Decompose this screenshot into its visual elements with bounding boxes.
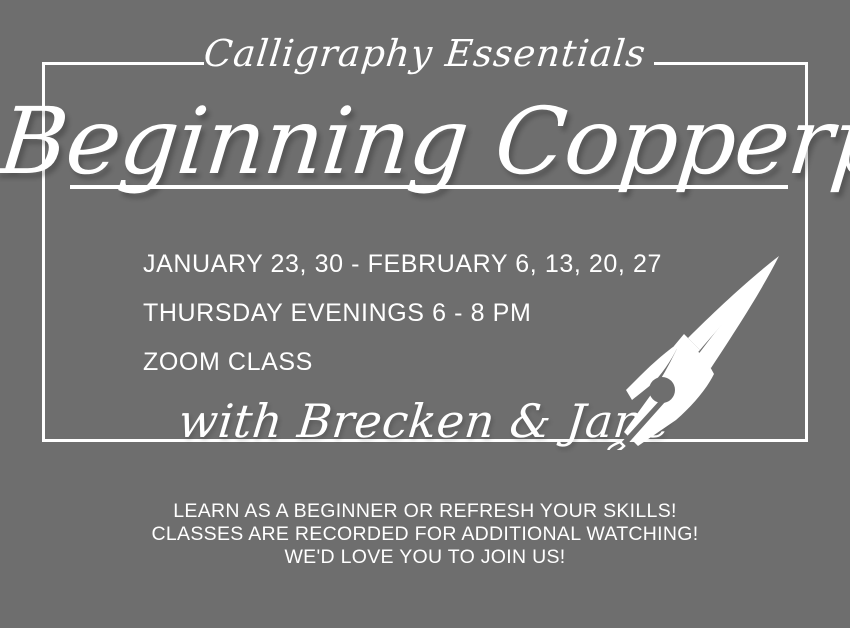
footer-message: LEARN AS A BEGINNER OR REFRESH YOUR SKIL… (0, 500, 850, 569)
detail-dates: JANUARY 23, 30 - FEBRUARY 6, 13, 20, 27 (143, 252, 662, 277)
page-title: Beginning Copperplate (0, 96, 850, 188)
footer-line-3: WE'D LOVE YOU TO JOIN US! (0, 546, 850, 569)
footer-line-2: CLASSES ARE RECORDED FOR ADDITIONAL WATC… (0, 523, 850, 546)
eyebrow-title: Calligraphy Essentials (0, 32, 850, 75)
calligraphy-pen-nib-icon (596, 250, 816, 450)
headline-underline (70, 185, 788, 189)
detail-format: ZOOM CLASS (143, 350, 662, 375)
footer-line-1: LEARN AS A BEGINNER OR REFRESH YOUR SKIL… (0, 500, 850, 523)
calligraphy-class-flyer: Calligraphy Essentials Beginning Copperp… (0, 0, 850, 628)
class-details: JANUARY 23, 30 - FEBRUARY 6, 13, 20, 27 … (143, 252, 662, 375)
detail-schedule: THURSDAY EVENINGS 6 - 8 PM (143, 301, 662, 326)
